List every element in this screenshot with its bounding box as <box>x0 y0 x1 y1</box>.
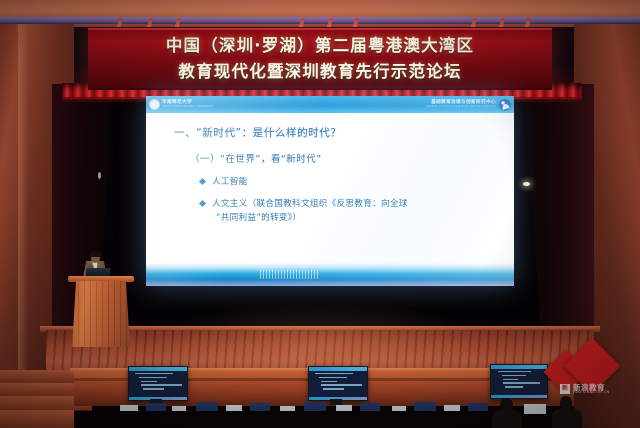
banner-line-2: 教育现代化暨深圳教育先行示范论坛 <box>178 59 461 85</box>
monitor-slide-body <box>309 371 367 394</box>
stage-light-glint <box>98 172 101 179</box>
table-paper <box>120 405 138 411</box>
table-paper <box>444 405 460 411</box>
slide-footer-bar <box>146 263 514 286</box>
slide-bullet-text-continuation: “共同利益”的转变》） <box>216 212 408 225</box>
slide-bullet: 人工智能 <box>200 176 500 189</box>
institute-name-en: Institute of Schooling Reform and Develo… <box>425 106 496 109</box>
confidence-monitor <box>128 366 188 401</box>
table-paper <box>392 406 406 411</box>
table-laptop <box>146 403 166 411</box>
watermark-text: 新浪教育 EDU.SINA.COM.CN <box>573 384 610 395</box>
monitor-text-line <box>141 384 182 385</box>
table-paper <box>226 405 242 411</box>
event-banner: 中国（深圳·罗湖）第二届粤港澳大湾区 教育现代化暨深圳教育先行示范论坛 <box>88 28 552 90</box>
monitor-slide-body <box>491 369 547 392</box>
table-paper <box>172 406 186 411</box>
monitor-text-line <box>321 384 362 385</box>
table-paper <box>280 406 295 411</box>
table-laptop <box>304 402 326 411</box>
slide-content: 一、“新时代”：是什么样的时代？ （一）“在世界”，看“新时代” 人工智能 人文… <box>146 113 514 263</box>
swirl-logo-icon <box>499 99 511 111</box>
table-laptop <box>414 402 436 411</box>
banner-line-1: 中国（深圳·罗湖）第二届粤港澳大湾区 <box>166 33 474 59</box>
slide-bullet-text: 人文主义（联合国教科文组织《反思教育：向全球 <box>212 199 408 209</box>
monitor-text-line <box>143 388 164 389</box>
monitor-text-line <box>323 388 344 389</box>
diamond-bullet-icon <box>199 200 206 207</box>
watermark-badge-icon: 新 <box>560 384 570 394</box>
monitor-text-line <box>502 375 526 376</box>
projection-screen: 华南师范大学 SOUTH CHINA NORMAL UNIVERSITY 基础教… <box>146 96 514 286</box>
watermark-badge-text: 新 <box>562 386 568 392</box>
table-laptop <box>360 403 380 411</box>
monitor-text-line <box>319 377 347 378</box>
monitor-text-line <box>498 371 531 372</box>
watermark-logo: 新 新浪教育 EDU.SINA.COM.CN <box>542 342 634 400</box>
diamond-bullet-icon <box>199 178 206 185</box>
slide-bullet-text-wrap: 人文主义（联合国教科文组织《反思教育：向全球 “共同利益”的转变》） <box>212 198 408 225</box>
auditorium-scene: 中国（深圳·罗湖）第二届粤港澳大湾区 教育现代化暨深圳教育先行示范论坛 华南师范… <box>0 0 640 428</box>
speaker-hair <box>90 251 101 257</box>
ceiling <box>0 0 640 30</box>
table-laptop <box>468 403 488 411</box>
university-name-en: SOUTH CHINA NORMAL UNIVERSITY <box>162 106 214 109</box>
table-laptop <box>524 404 546 414</box>
slide-heading-1: 一、“新时代”：是什么样的时代？ <box>174 125 500 140</box>
monitor-text-line <box>139 377 167 378</box>
monitor-text-line <box>503 379 518 380</box>
podium <box>72 281 130 347</box>
university-logo: 华南师范大学 SOUTH CHINA NORMAL UNIVERSITY <box>149 99 214 110</box>
table-laptop <box>250 403 270 411</box>
monitor-text-line <box>141 381 157 382</box>
confidence-monitor <box>308 366 368 401</box>
slide-heading-2: （一）“在世界”，看“新时代” <box>190 151 500 165</box>
monitor-slide-footer <box>491 395 547 398</box>
slide-bullet-text: 人工智能 <box>212 176 248 189</box>
monitor-text-line <box>321 381 337 382</box>
slide-header-bar: 华南师范大学 SOUTH CHINA NORMAL UNIVERSITY 基础教… <box>146 96 514 113</box>
monitor-text-line <box>503 382 540 383</box>
audience-shoulders <box>492 410 522 428</box>
slide-bullet: 人文主义（联合国教科文组织《反思教育：向全球 “共同利益”的转变》） <box>200 198 500 225</box>
table-laptop <box>196 402 218 411</box>
stage-step <box>0 410 74 428</box>
monitor-slide-body <box>129 371 187 394</box>
institute-logo: 基础教育治理与创新研究中心 Institute of Schooling Ref… <box>425 99 511 111</box>
audience-shoulders <box>552 408 582 428</box>
monitor-text-line <box>315 373 352 374</box>
monitor-text-line <box>505 386 523 387</box>
monitor-text-line <box>135 373 172 374</box>
university-seal-icon <box>149 99 160 110</box>
watermark-brand-en: EDU.SINA.COM.CN <box>573 391 610 395</box>
confidence-monitor <box>490 364 548 399</box>
table-paper <box>336 405 352 411</box>
stage-light-glint <box>523 182 530 186</box>
